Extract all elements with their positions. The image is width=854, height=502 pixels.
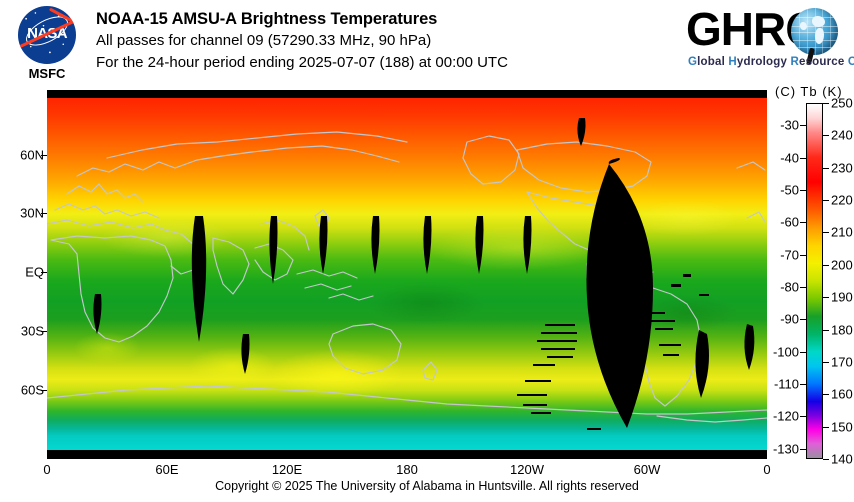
colorbar-kelvin-label: 250 (831, 96, 853, 111)
colorbar-kelvin-tick (823, 297, 829, 298)
channel-subtitle: All passes for channel 09 (57290.33 MHz,… (96, 30, 508, 52)
colorbar-kelvin-label: 150 (831, 419, 853, 434)
colorbar-kelvin-label: 140 (831, 452, 853, 467)
colorbar-celsius-tick (800, 158, 806, 159)
ghrc-logo: GHRC Global Hydrology Resource Center (686, 4, 850, 76)
colorbar-celsius-tick (800, 384, 806, 385)
colorbar-kelvin-tick (823, 362, 829, 363)
lon-label-0: 0 (43, 462, 50, 477)
nasa-msfc-logo: NASA MSFC (8, 6, 86, 86)
colorbar-kelvin-label: 160 (831, 387, 853, 402)
copyright-notice: Copyright © 2025 The University of Alaba… (0, 479, 854, 493)
colorbar-kelvin-tick (823, 394, 829, 395)
colorbar-kelvin-label: 200 (831, 257, 853, 272)
colorbar-kelvin-tick (823, 427, 829, 428)
colorbar-celsius-tick (800, 352, 806, 353)
lat-label-60n: 60N (6, 148, 44, 163)
map-canvas (47, 98, 767, 450)
colorbar-celsius-tick (800, 222, 806, 223)
colorbar-kelvin-label: 180 (831, 322, 853, 337)
colorbar-celsius-label: -110 (774, 377, 799, 392)
period-subtitle: For the 24-hour period ending 2025-07-07… (96, 52, 508, 74)
colorbar-celsius-label: -70 (780, 247, 799, 262)
lon-label-360: 0 (763, 462, 770, 477)
page-title: NOAA-15 AMSU-A Brightness Temperatures (96, 8, 508, 30)
lon-label-120e: 120E (272, 462, 302, 477)
map-bottom-band (47, 450, 767, 459)
colorbar-kelvin-tick (823, 168, 829, 169)
colorbar-kelvin-tick (823, 330, 829, 331)
lat-label-eq: EQ (6, 265, 44, 280)
colorbar: 250240230220210200190180170160150140 -30… (806, 103, 823, 459)
latitude-axis: 60N 30N EQ 30S 60S (0, 90, 44, 459)
colorbar-celsius-label: -120 (773, 409, 799, 424)
colorbar-celsius-tick (800, 416, 806, 417)
msfc-label: MSFC (8, 66, 86, 81)
colorbar-kelvin-label: 240 (831, 128, 853, 143)
orbital-data-gaps (47, 98, 767, 450)
lat-label-30n: 30N (6, 206, 44, 221)
colorbar-celsius-label: -60 (780, 215, 799, 230)
lon-label-120w: 120W (510, 462, 544, 477)
colorbar-celsius-label: -40 (780, 150, 799, 165)
lat-label-30s: 30S (6, 324, 44, 339)
colorbar-kelvin-tick (823, 459, 829, 460)
colorbar-kelvin-label: 170 (831, 354, 853, 369)
colorbar-celsius-label: -90 (780, 312, 799, 327)
colorbar-kelvin-tick (823, 232, 829, 233)
lon-label-60e: 60E (155, 462, 178, 477)
colorbar-celsius-label: -100 (773, 344, 799, 359)
colorbar-celsius-label: -80 (780, 279, 799, 294)
colorbar-celsius-tick (800, 287, 806, 288)
colorbar-kelvin-tick (823, 265, 829, 266)
colorbar-gradient (806, 103, 823, 459)
title-block: NOAA-15 AMSU-A Brightness Temperatures A… (96, 8, 508, 74)
colorbar-kelvin-tick (823, 200, 829, 201)
colorbar-celsius-label: -30 (780, 118, 799, 133)
nasa-meatball-icon: NASA (18, 6, 76, 64)
lon-label-60w: 60W (634, 462, 661, 477)
colorbar-celsius-tick (800, 255, 806, 256)
colorbar-kelvin-tick (823, 103, 829, 104)
colorbar-kelvin-label: 230 (831, 160, 853, 175)
ghrc-globe-icon (791, 8, 838, 55)
lon-label-180: 180 (396, 462, 418, 477)
lat-label-60s: 60S (6, 383, 44, 398)
ghrc-tagline: Global Hydrology Resource Center (688, 56, 854, 68)
colorbar-celsius-tick (800, 449, 806, 450)
colorbar-kelvin-tick (823, 135, 829, 136)
colorbar-kelvin-label: 210 (831, 225, 853, 240)
brightness-temperature-map (47, 90, 767, 459)
colorbar-kelvin-label: 220 (831, 193, 853, 208)
colorbar-celsius-tick (800, 125, 806, 126)
colorbar-celsius-tick (800, 190, 806, 191)
map-top-band (47, 90, 767, 98)
colorbar-celsius-label: -50 (780, 182, 799, 197)
colorbar-celsius-tick (800, 319, 806, 320)
colorbar-celsius-label: -130 (773, 441, 799, 456)
colorbar-kelvin-label: 190 (831, 290, 853, 305)
